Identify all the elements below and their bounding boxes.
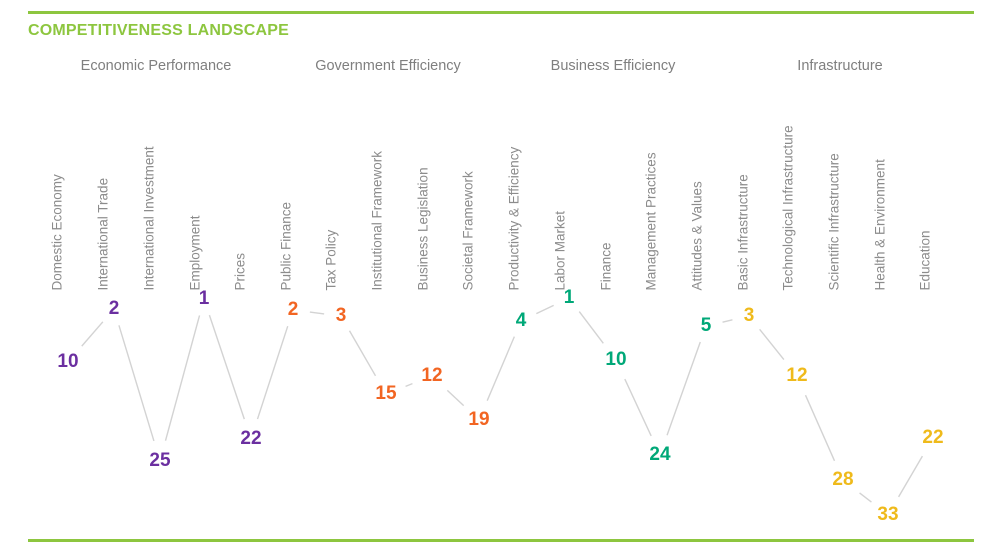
rank-value-12: 10: [605, 349, 626, 371]
rank-value-6: 3: [336, 305, 347, 327]
connector-segment-4: [258, 326, 288, 419]
connector-segment-2: [166, 315, 200, 440]
factor-label-13: Management Practices: [645, 152, 659, 290]
pillar-label-2: Business Efficiency: [551, 58, 676, 74]
rank-value-17: 28: [832, 469, 853, 491]
factor-label-7: Institutional Framework: [371, 150, 385, 290]
factor-label-0: Domestic Economy: [51, 174, 65, 290]
factor-label-14: Attitudes & Values: [691, 181, 705, 290]
rank-value-2: 25: [149, 450, 170, 472]
factor-label-3: Employment: [189, 215, 203, 290]
factor-label-12: Finance: [600, 242, 614, 290]
connector-segment-18: [899, 456, 923, 497]
connector-segment-17: [860, 493, 872, 502]
rank-value-11: 1: [564, 287, 575, 309]
rank-value-9: 19: [468, 409, 489, 431]
rank-value-13: 24: [649, 444, 670, 466]
factor-label-17: Scientific Infrastructure: [828, 153, 842, 290]
factor-label-6: Tax Policy: [325, 229, 339, 290]
rank-value-4: 22: [240, 428, 261, 450]
rank-value-14: 5: [701, 315, 712, 337]
connector-segment-11: [579, 312, 603, 344]
connector-segment-0: [82, 322, 103, 346]
factor-label-8: Business Legislation: [417, 167, 431, 290]
connector-segment-15: [760, 329, 784, 359]
page-title: COMPETITIVENESS LANDSCAPE: [28, 22, 289, 40]
connector-segment-14: [723, 320, 733, 322]
pillar-label-1: Government Efficiency: [315, 58, 461, 74]
factor-label-11: Labor Market: [554, 210, 568, 290]
connector-segment-13: [667, 342, 700, 435]
rank-value-19: 22: [922, 427, 943, 449]
factor-label-16: Technological Infrastructure: [782, 125, 796, 290]
factor-label-1: International Trade: [97, 177, 111, 290]
connector-segment-1: [119, 325, 154, 441]
rank-value-15: 3: [744, 305, 755, 327]
rank-value-7: 15: [375, 383, 396, 405]
competitiveness-landscape-chart: COMPETITIVENESS LANDSCAPE Economic Perfo…: [0, 0, 1002, 556]
factor-label-19: Education: [919, 230, 933, 290]
rank-value-5: 2: [288, 299, 299, 321]
rank-value-0: 10: [57, 351, 78, 373]
factor-label-18: Health & Environment: [874, 159, 888, 290]
pillar-label-0: Economic Performance: [81, 58, 232, 74]
connector-segment-9: [487, 337, 514, 401]
connector-segment-8: [447, 390, 463, 405]
factor-label-9: Societal Framework: [462, 171, 476, 290]
connector-segment-5: [310, 312, 324, 314]
connector-segment-7: [406, 384, 413, 387]
connector-segment-3: [209, 315, 244, 419]
connector-segment-6: [349, 331, 375, 376]
connector-segment-16: [805, 395, 834, 461]
connector-segment-10: [536, 305, 553, 313]
rank-value-10: 4: [516, 310, 527, 332]
factor-label-5: Public Finance: [280, 201, 294, 290]
factor-label-4: Prices: [234, 252, 248, 290]
pillar-label-3: Infrastructure: [797, 58, 882, 74]
rank-value-16: 12: [786, 365, 807, 387]
rank-value-18: 33: [877, 504, 898, 526]
factor-label-10: Productivity & Efficiency: [508, 146, 522, 290]
bottom-divider-rule: [28, 539, 974, 542]
top-divider-rule: [28, 11, 974, 14]
factor-label-15: Basic Infrastructure: [737, 174, 751, 290]
factor-label-2: International Investment: [143, 146, 157, 290]
rank-value-8: 12: [421, 365, 442, 387]
connector-segment-12: [625, 379, 651, 436]
rank-value-1: 2: [109, 298, 120, 320]
rank-value-3: 1: [199, 288, 210, 310]
